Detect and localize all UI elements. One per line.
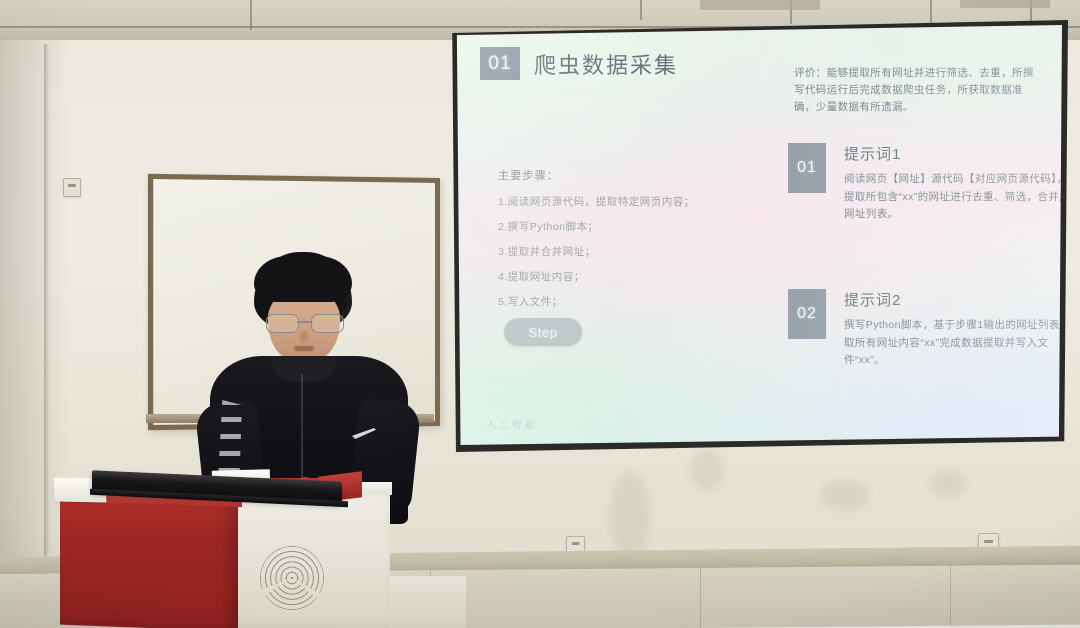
slide-header-badge: 01 (480, 47, 520, 80)
slide-header: 01 爬虫数据采集 (480, 47, 678, 80)
prompt-number-badge: 02 (788, 289, 826, 339)
speaker-grille-icon (260, 546, 324, 610)
glasses-icon (266, 314, 344, 331)
hair-fringe (254, 256, 352, 302)
prompt-title: 提示词1 (844, 143, 1062, 164)
podium-red-panel (60, 495, 238, 628)
evaluation-paragraph: 评价：能够提取所有网址并进行筛选、去重，所撰写代码运行后完成数据爬虫任务，所获取… (794, 65, 1042, 116)
podium (60, 468, 390, 628)
podium-riser (390, 576, 466, 628)
steps-title: 主要步骤： (498, 167, 713, 183)
step-item: 5.写入文件； (498, 294, 713, 309)
steps-block: 主要步骤： 1.阅读网页源代码，提取特定网页内容； 2.撰写Python脚本； … (498, 167, 713, 319)
mouth (294, 346, 314, 351)
wall-column-edge (44, 44, 49, 556)
prompt-card-1: 01 提示词1 阅读网页【网址】源代码【对应网页源代码】，提取所包含“xx”的网… (788, 143, 1062, 224)
projection-screen: 01 爬虫数据采集 评价：能够提取所有网址并进行筛选、去重，所撰写代码运行后完成… (446, 20, 1068, 452)
prompt-text: 阅读网页【网址】源代码【对应网页源代码】，提取所包含“xx”的网址进行去重、筛选… (844, 171, 1062, 224)
prompt-text: 撰写Python脚本，基于步骤1输出的网址列表提取所有网址内容“xx”完成数据提… (844, 317, 1062, 370)
nose (300, 330, 308, 342)
prompt-number-badge: 01 (788, 143, 826, 193)
slide-title: 爬虫数据采集 (534, 48, 678, 80)
steps-list: 1.阅读网页源代码，提取特定网页内容； 2.撰写Python脚本； 3.提取并合… (498, 194, 713, 309)
prompt-card-2: 02 提示词2 撰写Python脚本，基于步骤1输出的网址列表提取所有网址内容“… (788, 289, 1062, 370)
presentation-slide: 01 爬虫数据采集 评价：能够提取所有网址并进行筛选、去重，所撰写代码运行后完成… (452, 25, 1062, 445)
step-item: 1.阅读网页源代码，提取特定网页内容； (498, 194, 713, 209)
step-button[interactable]: Step (504, 318, 582, 346)
prompt-body: 提示词2 撰写Python脚本，基于步骤1输出的网址列表提取所有网址内容“xx”… (844, 289, 1062, 370)
step-item: 3.提取并合并网址； (498, 244, 713, 259)
screenshot-root: 01 爬虫数据采集 评价：能够提取所有网址并进行筛选、去重，所撰写代码运行后完成… (0, 0, 1080, 628)
prompt-body: 提示词1 阅读网页【网址】源代码【对应网页源代码】，提取所包含“xx”的网址进行… (844, 143, 1062, 224)
prompt-title: 提示词2 (844, 289, 1062, 310)
step-item: 4.提取网址内容； (498, 269, 713, 284)
step-item: 2.撰写Python脚本； (498, 219, 713, 234)
wall-outlet-left (63, 178, 81, 197)
slide-watermark: 人工智能 (486, 416, 538, 431)
screen-surface: 01 爬虫数据采集 评价：能够提取所有网址并进行筛选、去重，所撰写代码运行后完成… (452, 25, 1062, 445)
